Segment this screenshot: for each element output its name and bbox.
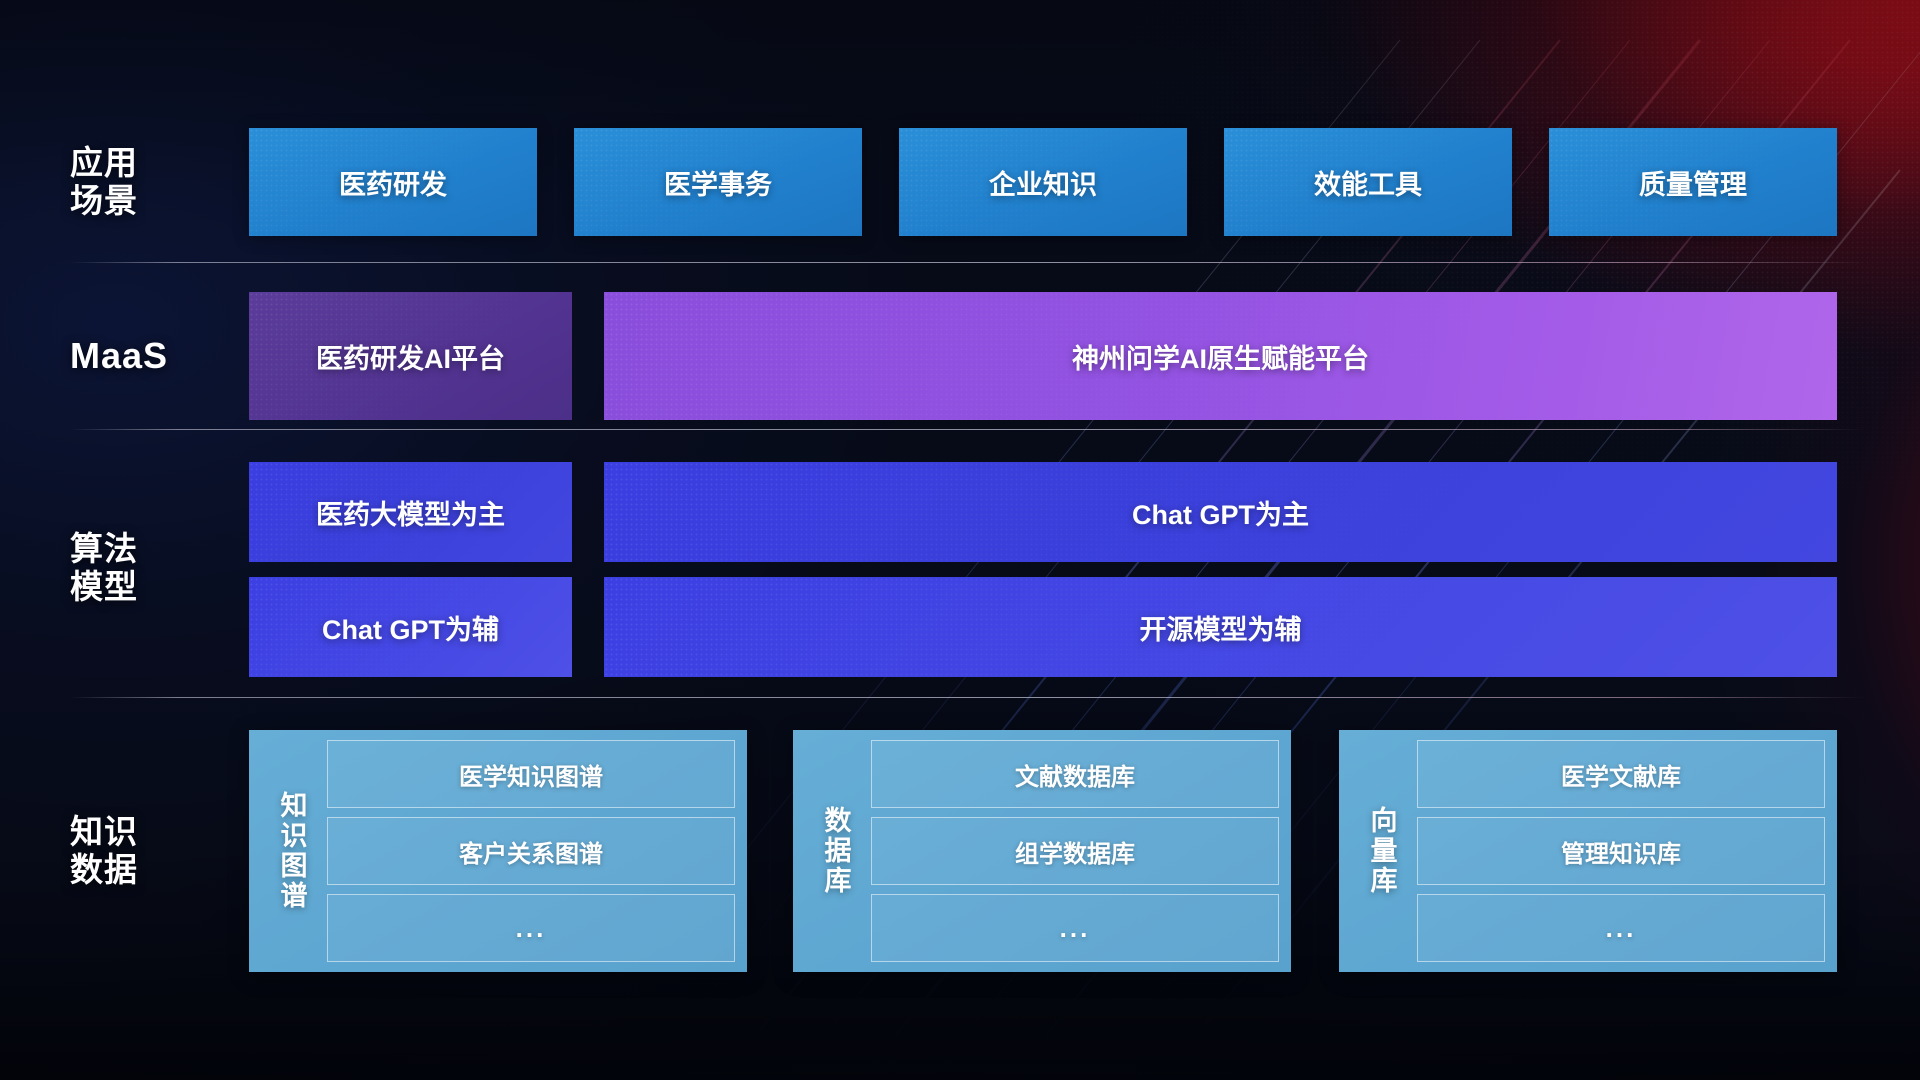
row-label-line: 应用 <box>70 144 260 182</box>
knowledge-group-vector-store[interactable]: 向量库 医学文献库 管理知识库 ... <box>1339 730 1837 972</box>
row-label-line: 模型 <box>70 568 260 606</box>
knowledge-group-title: 向量库 <box>1349 740 1413 962</box>
knowledge-item-more[interactable]: ... <box>871 894 1279 962</box>
algo-card-label: 医药大模型为主 <box>316 493 505 532</box>
row-label-line: 数据 <box>70 851 260 889</box>
row-label-line: 算法 <box>70 530 260 568</box>
knowledge-item[interactable]: 客户关系图谱 <box>327 817 735 885</box>
divider-after-maas <box>70 429 1865 430</box>
knowledge-group-knowledge-graph[interactable]: 知识图谱 医学知识图谱 客户关系图谱 ... <box>249 730 747 972</box>
knowledge-group-title: 数据库 <box>803 740 867 962</box>
knowledge-item[interactable]: 文献数据库 <box>871 740 1279 808</box>
maas-card-shenzhou-wenxue-platform[interactable]: 神州问学AI原生赋能平台 <box>604 292 1837 420</box>
knowledge-group-items: 医学知识图谱 客户关系图谱 ... <box>323 740 735 962</box>
divider-after-algorithm <box>70 697 1865 698</box>
row-label-knowledge: 知识 数据 <box>70 730 260 972</box>
knowledge-item[interactable]: 医学文献库 <box>1417 740 1825 808</box>
app-card-medical-affairs[interactable]: 医学事务 <box>574 128 862 236</box>
algo-card-label: Chat GPT为辅 <box>322 608 499 647</box>
algo-card-drug-llm-primary[interactable]: 医药大模型为主 <box>249 462 572 562</box>
knowledge-item[interactable]: 医学知识图谱 <box>327 740 735 808</box>
knowledge-group-title: 知识图谱 <box>259 740 323 962</box>
knowledge-group-items: 医学文献库 管理知识库 ... <box>1413 740 1825 962</box>
knowledge-item-more[interactable]: ... <box>327 894 735 962</box>
knowledge-group-items: 文献数据库 组学数据库 ... <box>867 740 1279 962</box>
app-card-drug-rd[interactable]: 医药研发 <box>249 128 537 236</box>
app-card-label: 医学事务 <box>664 163 772 202</box>
algo-card-label: 开源模型为辅 <box>1140 608 1302 647</box>
knowledge-item[interactable]: 组学数据库 <box>871 817 1279 885</box>
algo-card-chatgpt-secondary[interactable]: Chat GPT为辅 <box>249 577 572 677</box>
divider-after-application <box>70 262 1865 263</box>
app-card-quality-management[interactable]: 质量管理 <box>1549 128 1837 236</box>
row-label-maas: MaaS <box>70 292 260 420</box>
algo-card-chatgpt-primary[interactable]: Chat GPT为主 <box>604 462 1837 562</box>
row-label-line: 场景 <box>70 182 260 220</box>
maas-card-label: 医药研发AI平台 <box>316 337 505 376</box>
maas-card-drug-ai-platform[interactable]: 医药研发AI平台 <box>249 292 572 420</box>
knowledge-group-database[interactable]: 数据库 文献数据库 组学数据库 ... <box>793 730 1291 972</box>
row-label-algorithm: 算法 模型 <box>70 460 260 675</box>
app-card-label: 医药研发 <box>339 163 447 202</box>
app-card-enterprise-knowledge[interactable]: 企业知识 <box>899 128 1187 236</box>
algo-card-opensource-secondary[interactable]: 开源模型为辅 <box>604 577 1837 677</box>
knowledge-item[interactable]: 管理知识库 <box>1417 817 1825 885</box>
knowledge-item-more[interactable]: ... <box>1417 894 1825 962</box>
diagram-canvas: 应用 场景 医药研发 医学事务 企业知识 效能工具 质量管理 <box>0 0 1920 1080</box>
app-card-efficiency-tools[interactable]: 效能工具 <box>1224 128 1512 236</box>
app-card-label: 质量管理 <box>1639 163 1747 202</box>
row-label-line: 知识 <box>70 813 260 851</box>
app-card-label: 效能工具 <box>1314 163 1422 202</box>
algo-card-label: Chat GPT为主 <box>1132 493 1309 532</box>
row-label-application: 应用 场景 <box>70 128 260 236</box>
maas-card-label: 神州问学AI原生赋能平台 <box>1072 337 1369 376</box>
row-label-line: MaaS <box>70 335 260 376</box>
architecture-rows: 应用 场景 医药研发 医学事务 企业知识 效能工具 质量管理 <box>0 0 1920 1080</box>
app-card-label: 企业知识 <box>989 163 1097 202</box>
